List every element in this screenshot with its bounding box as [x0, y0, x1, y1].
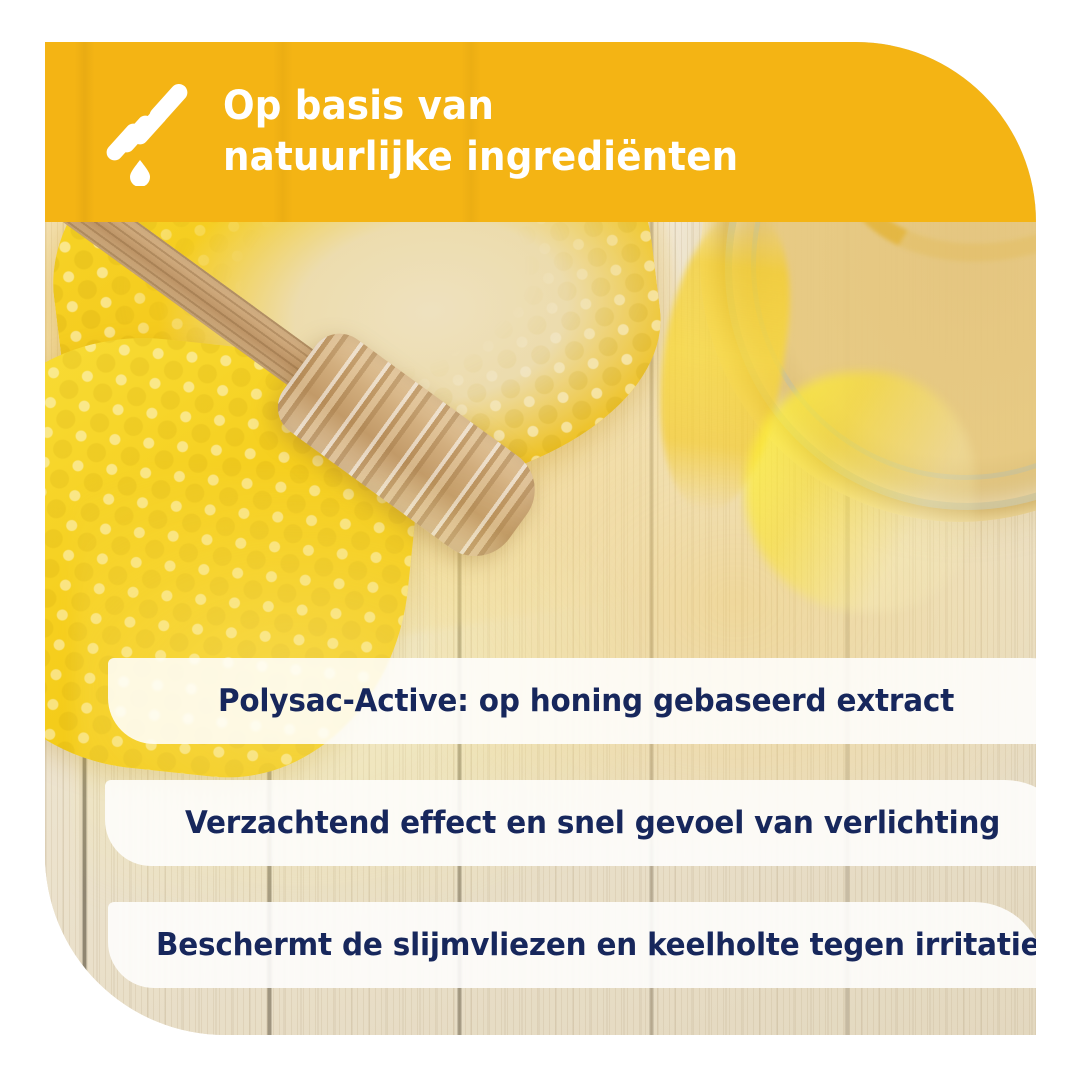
- feature-banner-1-label: Polysac-Active: op honing gebaseerd extr…: [218, 683, 954, 719]
- header-content: Op basis van natuurlijke ingrediënten: [45, 42, 1036, 222]
- promo-card: Op basis van natuurlijke ingrediënten Po…: [45, 42, 1036, 1035]
- feature-banner-2-label: Verzachtend effect en snel gevoel van ve…: [185, 805, 1000, 841]
- feature-banner-2: Verzachtend effect en snel gevoel van ve…: [105, 780, 1036, 866]
- feature-banner-3: Beschermt de slijmvliezen en keelholte t…: [108, 902, 1036, 988]
- honey-dipper-icon: [103, 82, 195, 186]
- feature-banner-3-label: Beschermt de slijmvliezen en keelholte t…: [156, 927, 1036, 963]
- page-title: Op basis van natuurlijke ingrediënten: [223, 81, 738, 183]
- jar-highlight: [745, 372, 975, 612]
- header-band: Op basis van natuurlijke ingrediënten: [45, 42, 1036, 222]
- feature-banner-1: Polysac-Active: op honing gebaseerd extr…: [108, 658, 1036, 744]
